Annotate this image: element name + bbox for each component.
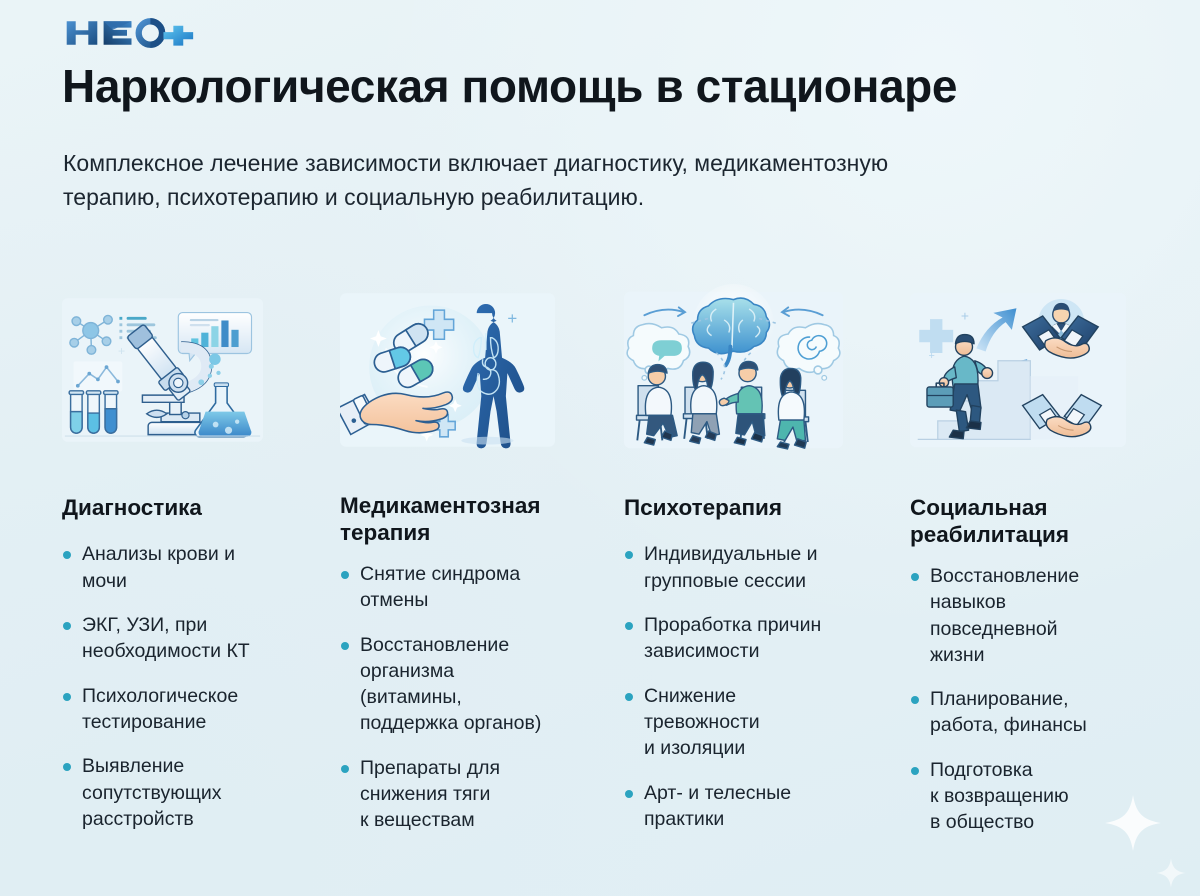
list-item: Анализы крови и мочи xyxy=(62,541,263,594)
svg-text:+: + xyxy=(118,344,125,358)
list-item: Психологическое тестирование xyxy=(62,683,263,736)
list-item: Снижение тревожности и изоляции xyxy=(624,683,843,762)
column-diagnostics: + xyxy=(0,270,285,854)
column-social-rehab: + + xyxy=(855,270,1140,854)
sparkle-small-icon xyxy=(1156,858,1186,888)
psychotherapy-illustration xyxy=(624,270,843,470)
list-item: Восстановление навыков повседневной жизн… xyxy=(910,563,1126,668)
list-item: ЭКГ, УЗИ, при необходимости КТ xyxy=(62,612,263,665)
svg-text:+: + xyxy=(929,350,935,362)
column-heading: Медикаментозная терапия xyxy=(340,492,555,547)
diagnostics-bullet-list: Анализы крови и мочи ЭКГ, УЗИ, при необх… xyxy=(62,541,263,832)
bar-chart-card xyxy=(178,313,251,361)
list-item: Индивидуальные и групповые сессии xyxy=(624,541,843,594)
social-rehab-illustration: + + xyxy=(910,270,1126,470)
list-item: Препараты для снижения тяги к веществам xyxy=(340,755,555,834)
svg-text:+: + xyxy=(961,308,969,324)
column-heading: Социальная реабилитация xyxy=(910,494,1126,549)
columns-container: + xyxy=(0,270,1200,854)
test-tubes-icon xyxy=(69,391,118,433)
social-rehab-bullet-list: Восстановление навыков повседневной жизн… xyxy=(910,563,1126,836)
list-item: Восстановление организма (витамины, подд… xyxy=(340,632,555,737)
diagnostics-illustration: + xyxy=(62,270,263,470)
page-title: Наркологическая помощь в стационаре xyxy=(62,62,1152,110)
list-item: Снятие синдрома отмены xyxy=(340,561,555,614)
page-subtitle: Комплексное лечение зависимости включает… xyxy=(63,146,963,214)
medication-illustration: + xyxy=(340,270,555,470)
column-psychotherapy: Психотерапия Индивидуальные и групповые … xyxy=(570,270,855,854)
column-heading: Диагностика xyxy=(62,494,263,521)
column-medication: + xyxy=(285,270,570,854)
column-heading: Психотерапия xyxy=(624,494,843,521)
list-item: Подготовка к возвращению в общество xyxy=(910,757,1126,836)
medication-bullet-list: Снятие синдрома отмены Восстановление ор… xyxy=(340,561,555,834)
brand-logo[interactable] xyxy=(64,12,199,54)
list-item: Выявление сопутствующих расстройств xyxy=(62,753,263,832)
list-item: Планирование, работа, финансы xyxy=(910,686,1126,739)
list-item: Проработка причин зависимости xyxy=(624,612,843,665)
svg-text:+: + xyxy=(507,309,517,328)
hand-icon xyxy=(340,392,452,434)
list-item: Арт- и телесные практики xyxy=(624,780,843,833)
psychotherapy-bullet-list: Индивидуальные и групповые сессии Прораб… xyxy=(624,541,843,832)
